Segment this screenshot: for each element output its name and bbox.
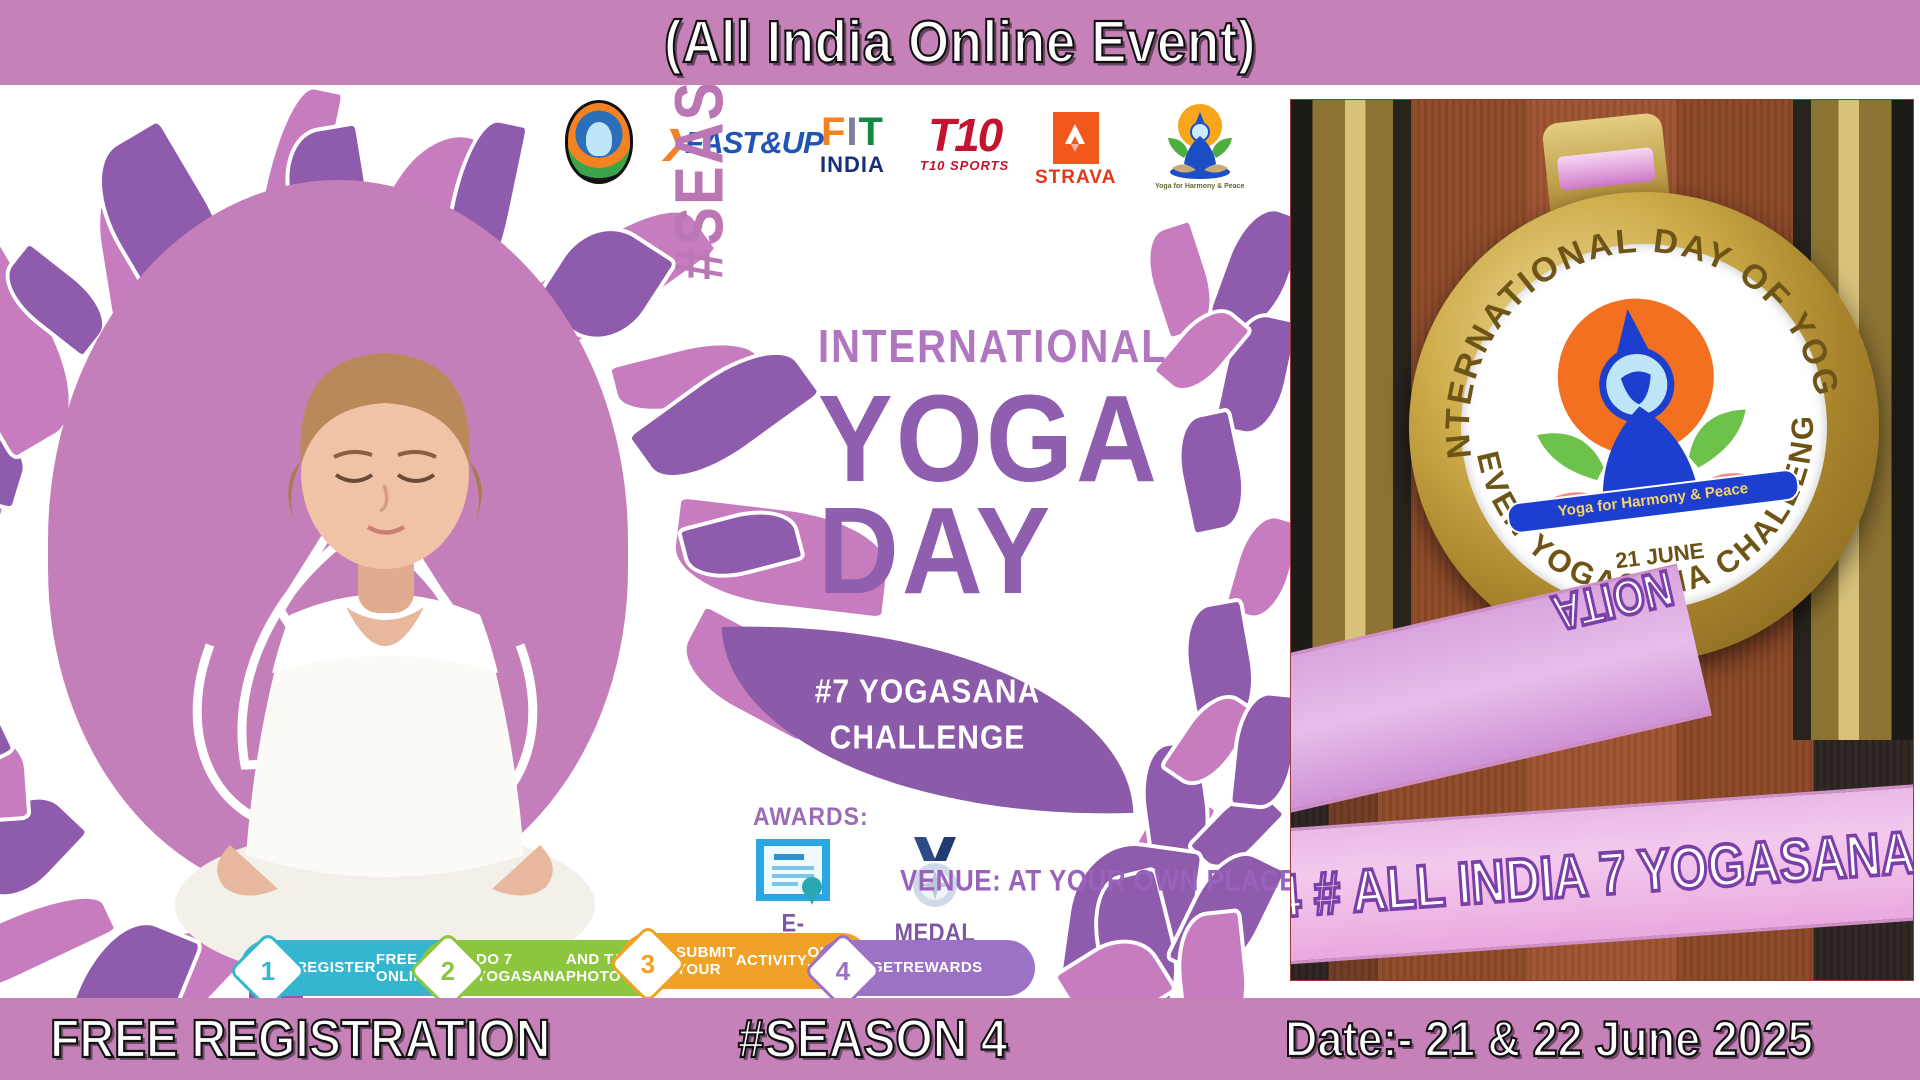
fit-india-f: F	[821, 110, 846, 154]
athletics-association-badge-icon	[565, 100, 633, 184]
top-banner: (All India Online Event)	[0, 0, 1920, 85]
poster-body: ❯FAST&UP FIT INDIA T10 T10 SPORTS STRAVA	[0, 85, 1920, 998]
step-number: 4	[836, 956, 850, 987]
medal-photograph: INTERNATIONAL DAY OF YOGA SEVEN YOGASANA…	[1290, 99, 1914, 981]
certificate-icon	[754, 837, 832, 907]
fit-india-i: I	[846, 110, 858, 154]
challenge-line-1: #7 YOGASANA	[725, 670, 1130, 715]
wreath-leaf-blade	[1232, 693, 1297, 808]
season-vertical-label: #SEASON 4	[660, 85, 739, 280]
challenge-line-2: CHALLENGE	[725, 716, 1130, 761]
poster-root: (All India Online Event)	[0, 0, 1920, 1080]
yoga-model-photo	[170, 285, 600, 985]
headline-day: DAY	[818, 489, 1053, 612]
awards-label: AWARDS:	[753, 802, 869, 832]
strava-label: STRAVA	[1035, 167, 1116, 189]
wreath-leaf-blade	[1176, 912, 1250, 998]
process-step-4[interactable]: GETREWARDS4	[815, 940, 1035, 996]
sponsor-international-yoga-day: Yoga for Harmony & Peace	[1155, 102, 1244, 190]
strava-mark-icon	[1053, 112, 1099, 164]
sponsor-t10-sports: T10 T10 SPORTS	[920, 114, 1009, 173]
event-subtitle: (All India Online Event)	[664, 8, 1256, 76]
yoga-day-logo-icon	[1164, 102, 1236, 182]
t10-logo-icon: T10	[928, 114, 1001, 158]
sponsor-fit-india: FIT INDIA	[820, 112, 885, 178]
step-number: 2	[441, 956, 455, 987]
fit-india-logo-icon: FIT	[821, 112, 884, 152]
footer-date: Date:- 21 & 22 June 2025	[1285, 1010, 1813, 1068]
sponsor-athletics-association	[565, 100, 633, 184]
challenge-banner-text: #7 YOGASANA CHALLENGE	[725, 670, 1130, 761]
wreath-leaf	[1176, 912, 1250, 998]
yoga-day-logo-caption: Yoga for Harmony & Peace	[1155, 183, 1244, 190]
footer-free-registration: FREE REGISTRATION	[50, 1008, 550, 1070]
bottom-banner: FREE REGISTRATION #SEASON 4 Date:- 21 & …	[0, 998, 1920, 1080]
fit-india-label: INDIA	[820, 152, 885, 178]
step-number: 3	[641, 949, 655, 980]
headline-international: INTERNATIONAL	[818, 322, 1168, 374]
footer-season: #SEASON 4	[738, 1008, 1007, 1070]
wreath-leaf	[1232, 693, 1297, 808]
fit-india-t: T	[859, 110, 884, 154]
sponsor-strava: STRAVA	[1035, 112, 1116, 189]
step-number: 1	[261, 956, 275, 987]
t10-label: T10 SPORTS	[920, 158, 1009, 173]
